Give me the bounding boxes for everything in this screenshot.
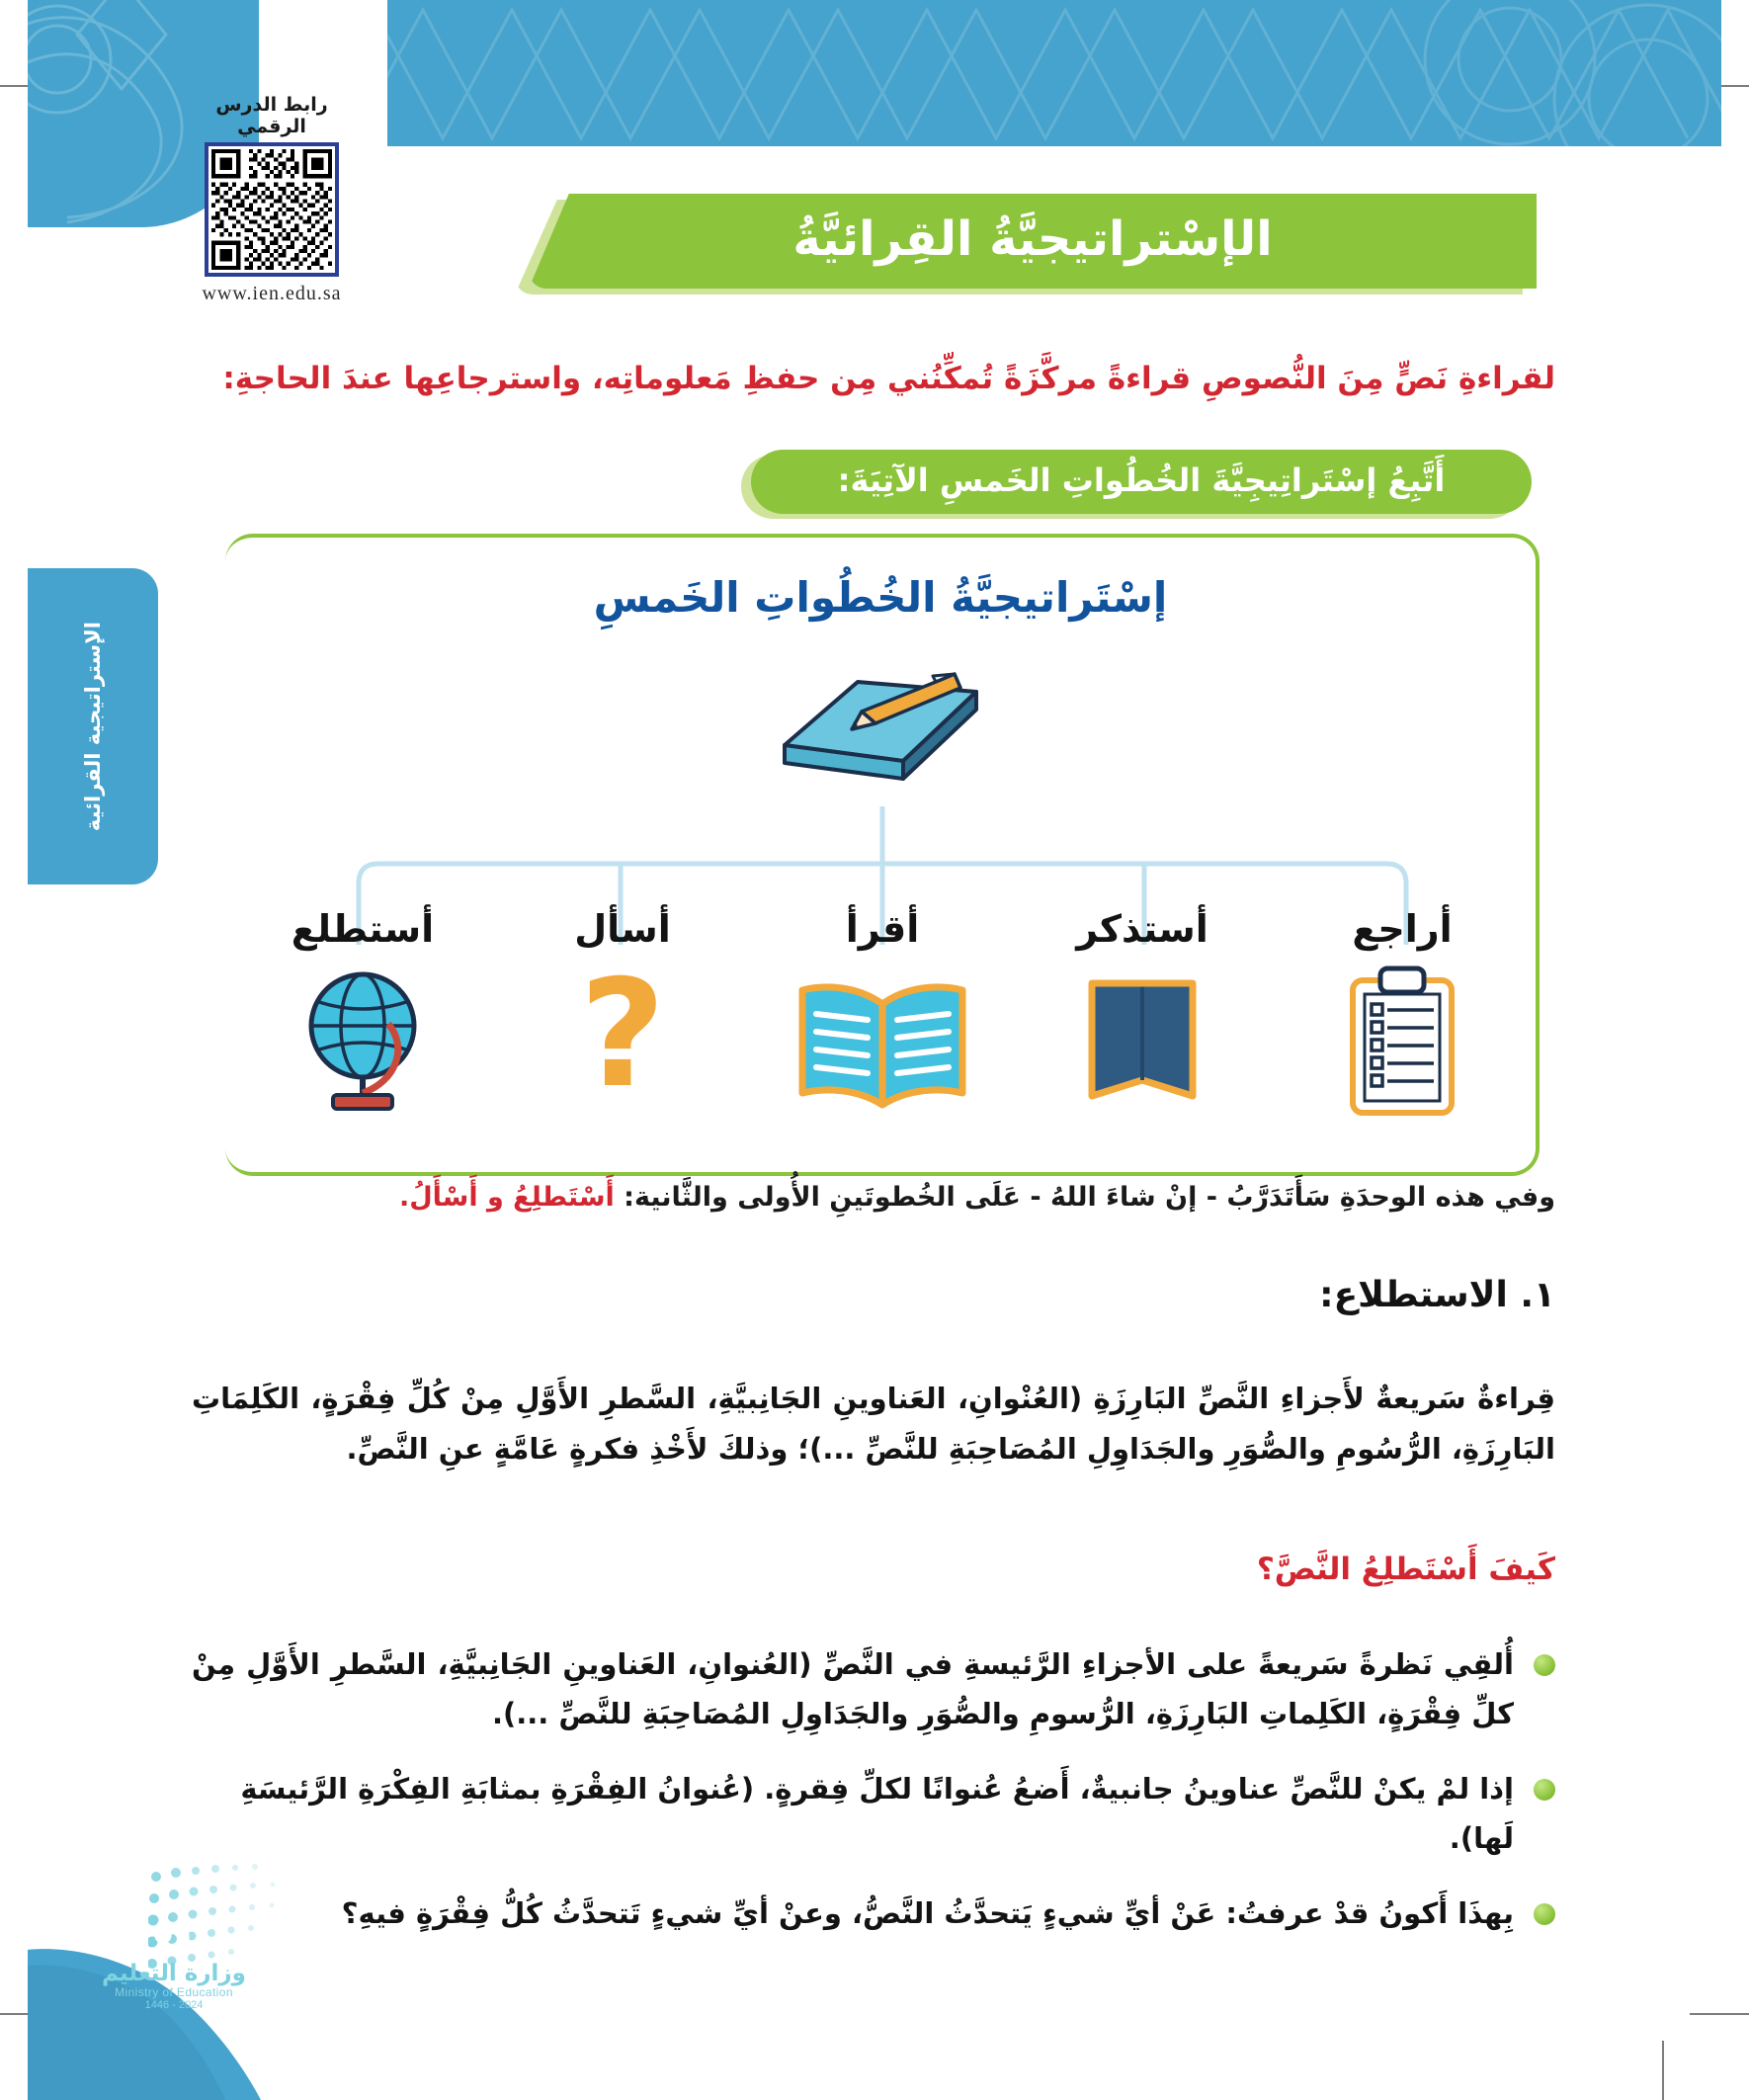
note-prefix: وفي هذه الوحدَةِ سَأَتَدَرَّبُ - إنْ شاء… <box>624 1182 1555 1213</box>
list-item: بِهذَا أَكونُ قدْ عرفتُ: عَنْ أيِّ شيءٍ … <box>192 1890 1555 1939</box>
digital-lesson-qr-block[interactable]: رابط الدرس الرقمي <box>193 94 351 305</box>
ministry-logo-year: 2024 - 1446 <box>85 1999 263 2011</box>
list-item-text: أُلقِي نَظرةً سَريعةً على الأجزاءِ الرَّ… <box>192 1640 1514 1739</box>
step-memorize: أستذكر <box>1019 907 1266 1123</box>
page-title: الإسْتراتيجيَّةُ القِرائيَّةُ <box>792 211 1272 271</box>
ministry-logo-english: Ministry of Education <box>85 1985 263 1999</box>
step-survey: أستطلع <box>239 907 486 1123</box>
step-label: أسأل <box>574 907 671 951</box>
unit-practice-note: وفي هذه الوحدَةِ سَأَتَدَرَّبُ - إنْ شاء… <box>192 1182 1555 1213</box>
list-item-text: بِهذَا أَكونُ قدْ عرفتُ: عَنْ أيِّ شيءٍ … <box>192 1890 1514 1939</box>
side-tab-label: الإستراتيجية القرائية <box>81 622 105 831</box>
diagram-title: إسْتَراتيجيَّةُ الخُطُواتِ الخَمسِ <box>225 573 1536 622</box>
step-review: أراجع <box>1279 907 1526 1123</box>
textbook-page: رابط الدرس الرقمي <box>0 0 1749 2100</box>
step-ask: أسأل ? <box>499 907 746 1123</box>
ministry-logo: وزارة التعليم Ministry of Education 2024… <box>85 1962 263 2011</box>
subbanner-label: أَتَّبِعُ إسْتَراتِيجِيَّةَ الخُطُواتِ ا… <box>838 462 1446 502</box>
bullet-list: أُلقِي نَظرةً سَريعةً على الأجزاءِ الرَّ… <box>192 1640 1555 1964</box>
step-label: أستذكر <box>1076 907 1208 951</box>
list-item: أُلقِي نَظرةً سَريعةً على الأجزاءِ الرَّ… <box>192 1640 1555 1739</box>
step-read: أقرأ <box>759 907 1006 1123</box>
list-item: إذا لمْ يكنْ للنَّصِّ عناوينُ جانبيةٌ، أ… <box>192 1765 1555 1864</box>
section-paragraph: قِراءةٌ سَريعةٌ لأَجزاءِ النَّصِّ البَار… <box>192 1374 1555 1474</box>
clipboard-checklist-icon <box>1343 965 1461 1123</box>
banner-body: الإسْتراتيجيَّةُ القِرائيَّةُ <box>529 194 1537 289</box>
lead-red-text: لقراءةِ نَصٍّ مِنَ النُّصوصِ قراءةً مركَ… <box>192 356 1555 402</box>
qr-url-text: www.ien.edu.sa <box>193 283 351 305</box>
qr-code-matrix <box>211 149 332 270</box>
subbanner-body: أَتَّبِعُ إسْتَراتِيجِيَّةَ الخُطُواتِ ا… <box>751 450 1532 514</box>
notebook-with-pencil-icon <box>767 654 994 802</box>
step-label: أراجع <box>1352 907 1452 951</box>
bullet-dot-icon <box>1534 1903 1555 1925</box>
qr-caption: رابط الدرس الرقمي <box>193 94 351 137</box>
qr-code-icon[interactable] <box>205 142 339 277</box>
reading-strategy-title-banner: الإسْتراتيجيَّةُ القِرائيَّةُ <box>529 194 1537 293</box>
closed-book-icon <box>1078 965 1207 1123</box>
svg-text:?: ? <box>579 965 665 1121</box>
section-question: كَيفَ أَسْتَطلِعُ النَّصَّ؟ <box>192 1552 1555 1587</box>
note-highlight: أَسْتَطلِعُ و أَسْأَلُ. <box>399 1182 615 1213</box>
crop-mark-icon <box>1662 2041 1664 2100</box>
follow-strategy-subbanner: أَتَّبِعُ إسْتَراتِيجِيَّةَ الخُطُواتِ ا… <box>751 450 1532 517</box>
side-tab-reading-strategy[interactable]: الإستراتيجية القرائية <box>28 568 158 884</box>
page-number: ٥١ <box>85 1911 263 1952</box>
five-steps-row: أراجع أستذكر <box>225 907 1540 1174</box>
ministry-logo-arabic: وزارة التعليم <box>85 1962 263 1985</box>
list-item-text: إذا لمْ يكنْ للنَّصِّ عناوينُ جانبيةٌ، أ… <box>192 1765 1514 1864</box>
open-book-icon <box>789 965 976 1123</box>
step-label: أستطلع <box>291 907 434 951</box>
bullet-dot-icon <box>1534 1654 1555 1676</box>
bullet-dot-icon <box>1534 1779 1555 1801</box>
globe-icon <box>293 965 432 1123</box>
section-heading: ١. الاستطلاع: <box>192 1275 1555 1315</box>
crop-mark-icon <box>1690 2013 1749 2015</box>
step-label: أقرأ <box>846 907 920 951</box>
question-mark-icon: ? <box>568 965 677 1123</box>
